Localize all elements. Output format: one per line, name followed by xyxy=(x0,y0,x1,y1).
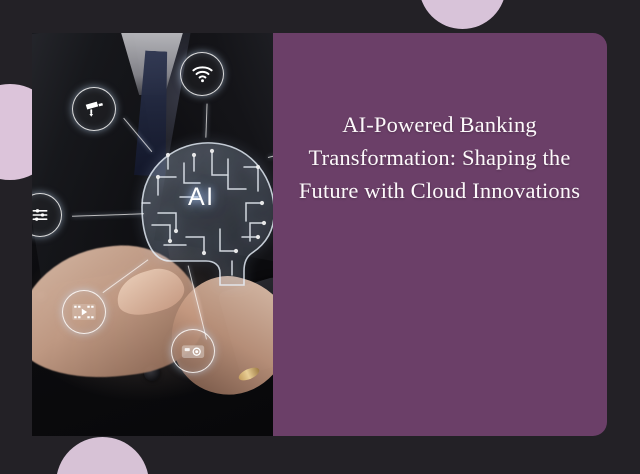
video-play-icon xyxy=(62,290,106,334)
title-panel: AI-Powered Banking Transformation: Shapi… xyxy=(272,33,607,436)
ai-brain-hologram xyxy=(124,133,273,293)
deco-circle-bottom-left xyxy=(56,437,149,474)
security-camera-icon xyxy=(72,87,116,131)
wifi-icon xyxy=(180,52,224,96)
banner-canvas: AI-Powered Banking Transformation: Shapi… xyxy=(0,0,640,474)
hero-photo: AI xyxy=(32,33,273,436)
page-title: AI-Powered Banking Transformation: Shapi… xyxy=(272,33,607,207)
deco-circle-top-right xyxy=(419,0,506,29)
camera-icon xyxy=(171,329,215,373)
